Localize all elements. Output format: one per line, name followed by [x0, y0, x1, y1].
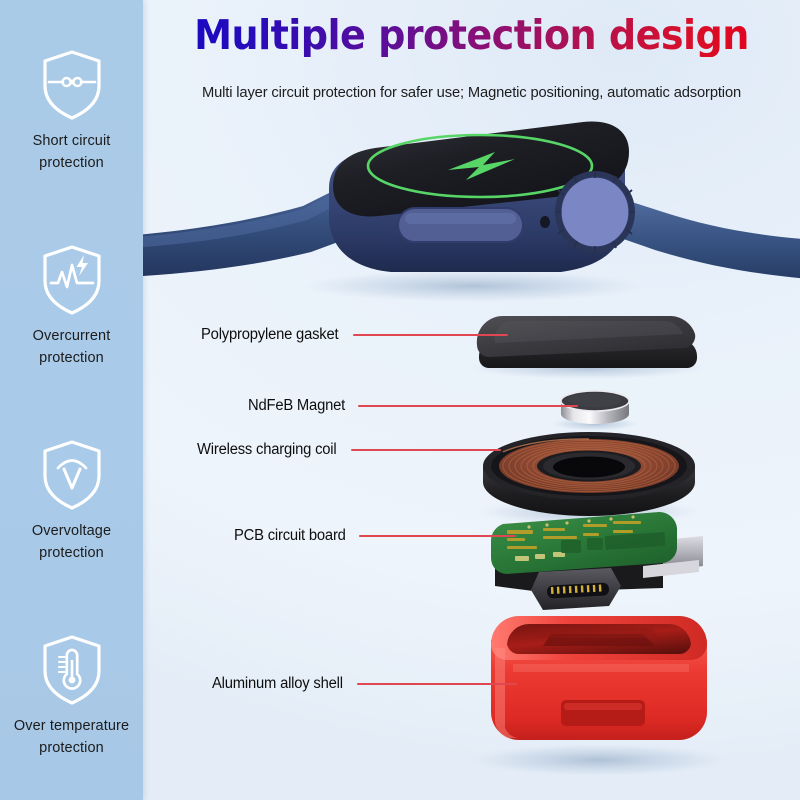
shield-overvoltage-icon: [39, 438, 105, 512]
callout-label: Polypropylene gasket: [201, 326, 338, 344]
feature-label-line2: protection: [39, 155, 104, 171]
leader-line: [358, 405, 578, 407]
callout-coil: Wireless charging coil: [197, 441, 501, 459]
callout-label: NdFeB Magnet: [248, 397, 345, 415]
callout-gasket: Polypropylene gasket: [201, 326, 508, 344]
smartwatch-illustration: [143, 122, 800, 302]
pcb-circuit-board-part: [491, 512, 703, 610]
infographic-page: Short circuit protection Overcurrent pro…: [0, 0, 800, 800]
shield-overcurrent-icon: [39, 243, 105, 317]
shield-temperature-icon: [39, 633, 105, 707]
feature-label-line1: Overvoltage: [32, 523, 111, 539]
feature-label-line1: Over temperature: [14, 718, 129, 734]
leader-line: [357, 683, 517, 685]
callout-label: Wireless charging coil: [197, 441, 336, 459]
callout-shell: Aluminum alloy shell: [212, 675, 517, 693]
feature-label-line2: protection: [39, 545, 104, 561]
feature-label: Overvoltage protection: [4, 521, 140, 565]
feature-overcurrent: Overcurrent protection: [0, 243, 143, 370]
feature-label-line2: protection: [39, 350, 104, 366]
feature-label: Overcurrent protection: [4, 326, 140, 370]
callout-pcb: PCB circuit board: [234, 527, 516, 545]
wireless-charging-coil-part: [477, 432, 701, 526]
callout-magnet: NdFeB Magnet: [248, 397, 578, 415]
features-sidebar: Short circuit protection Overcurrent pro…: [0, 0, 143, 800]
callout-label: Aluminum alloy shell: [212, 675, 343, 693]
feature-label: Short circuit protection: [4, 131, 140, 175]
leader-line: [353, 334, 508, 336]
feature-over-temperature: Over temperature protection: [0, 633, 143, 760]
feature-label: Over temperature protection: [4, 716, 140, 760]
feature-label-line1: Short circuit: [33, 133, 111, 149]
callout-label: PCB circuit board: [234, 527, 346, 545]
leader-line: [351, 449, 501, 451]
leader-line: [359, 535, 516, 537]
shield-short-circuit-icon: [39, 48, 105, 122]
feature-label-line1: Overcurrent: [33, 328, 111, 344]
feature-short-circuit: Short circuit protection: [0, 48, 143, 175]
aluminum-alloy-shell-part: [469, 616, 729, 776]
feature-label-line2: protection: [39, 740, 104, 756]
feature-overvoltage: Overvoltage protection: [0, 438, 143, 565]
microphone-hole: [540, 216, 550, 228]
